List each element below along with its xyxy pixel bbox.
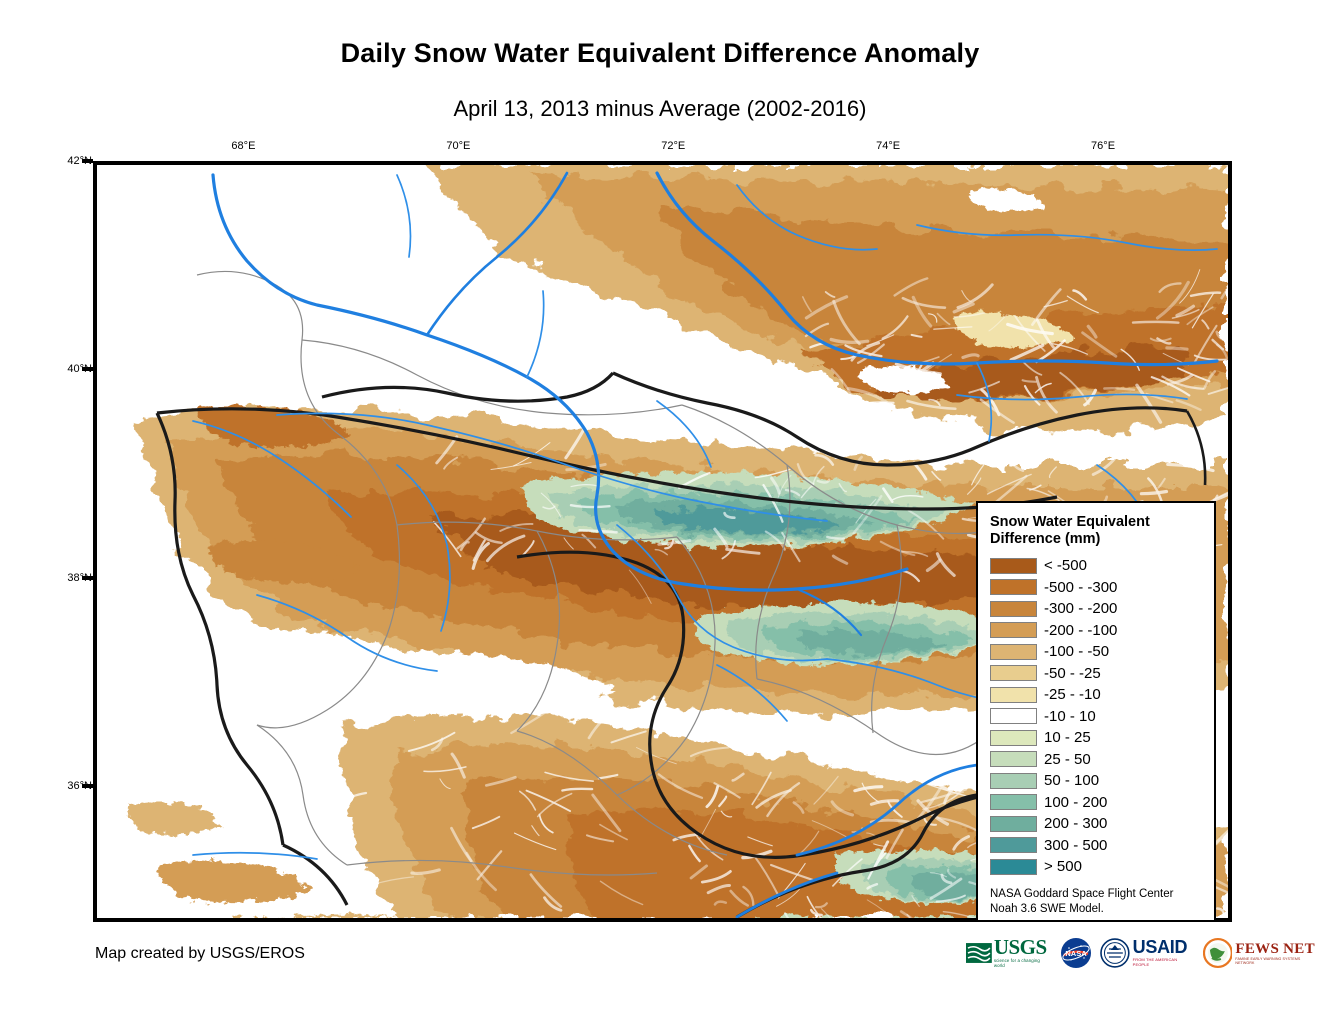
legend-entry: -500 - -300 [990,577,1204,599]
legend-label: 50 - 100 [1044,773,1099,788]
legend-entry: 200 - 300 [990,813,1204,835]
legend-swatch [990,859,1037,875]
legend-label: -200 - -100 [1044,623,1117,638]
legend-label: -10 - 10 [1044,709,1096,724]
ridge-highlight [1133,322,1178,323]
legend-swatch [990,773,1037,789]
legend-swatch [990,730,1037,746]
legend-entry: -25 - -10 [990,684,1204,706]
ridge-highlight [1167,348,1187,349]
longitude-tick-label: 76°E [1091,140,1115,152]
fews-logo-text: FEWS NET [1235,942,1320,957]
page-subtitle: April 13, 2013 minus Average (2002-2016) [0,96,1320,122]
legend-entry: -200 - -100 [990,620,1204,642]
latitude-tick-label: 36°N [58,780,92,792]
latitude-tick-label: 38°N [58,572,92,584]
legend-label: -25 - -10 [1044,687,1101,702]
legend-entries: < -500-500 - -300-300 - -200-200 - -100-… [990,555,1204,878]
map-legend: Snow Water Equivalent Difference (mm) < … [976,501,1216,922]
legend-entry: -10 - 10 [990,706,1204,728]
longitude-tick-label: 68°E [231,140,255,152]
latitude-tick-label: 42°N [58,155,92,167]
legend-entry: -300 - -200 [990,598,1204,620]
fews-logo[interactable]: FEWS NET FAMINE EARLY WARNING SYSTEMS NE… [1203,936,1320,970]
usaid-logo[interactable]: USAID FROM THE AMERICAN PEOPLE [1100,936,1195,970]
legend-label: -100 - -50 [1044,644,1109,659]
legend-entry: -100 - -50 [990,641,1204,663]
usgs-logo-subtext: science for a changing world [994,958,1052,968]
legend-swatch [990,816,1037,832]
legend-swatch [990,665,1037,681]
usgs-wave-icon [966,943,992,963]
legend-label: -50 - -25 [1044,666,1101,681]
legend-label: < -500 [1044,558,1087,573]
legend-entry: 50 - 100 [990,770,1204,792]
legend-entry: 10 - 25 [990,727,1204,749]
page-title: Daily Snow Water Equivalent Difference A… [0,38,1320,69]
fews-logo-subtext: FAMINE EARLY WARNING SYSTEMS NETWORK [1235,957,1320,965]
legend-title-line2: Difference (mm) [990,531,1100,547]
nasa-meatball-icon: NASA [1060,937,1092,969]
agency-logos: USGS science for a changing world NASA U… [966,933,1320,973]
longitude-tick-label: 74°E [876,140,900,152]
legend-swatch [990,708,1037,724]
legend-source-note: NASA Goddard Space Flight Center Noah 3.… [990,887,1204,918]
legend-entry: 100 - 200 [990,792,1204,814]
legend-entry: < -500 [990,555,1204,577]
legend-entry: -50 - -25 [990,663,1204,685]
legend-label: 300 - 500 [1044,838,1107,853]
legend-entry: 25 - 50 [990,749,1204,771]
usaid-logo-subtext: FROM THE AMERICAN PEOPLE [1133,957,1195,967]
legend-title: Snow Water Equivalent Difference (mm) [990,514,1204,548]
svg-text:NASA: NASA [1065,949,1087,958]
legend-swatch [990,751,1037,767]
legend-label: 25 - 50 [1044,752,1091,767]
legend-label: -500 - -300 [1044,580,1117,595]
fews-globe-icon [1203,938,1233,968]
legend-label: > 500 [1044,859,1082,874]
legend-swatch [990,687,1037,703]
latitude-tick-label: 40°N [58,363,92,375]
legend-swatch [990,837,1037,853]
legend-label: 100 - 200 [1044,795,1107,810]
longitude-tick-label: 70°E [446,140,470,152]
legend-label: -300 - -200 [1044,601,1117,616]
map-credit: Map created by USGS/EROS [95,945,305,963]
usgs-logo[interactable]: USGS science for a changing world [966,936,1052,970]
legend-label: 200 - 300 [1044,816,1107,831]
usaid-seal-icon [1100,938,1130,968]
legend-label: 10 - 25 [1044,730,1091,745]
legend-entry: 300 - 500 [990,835,1204,857]
usgs-logo-text: USGS [994,938,1052,958]
legend-title-line1: Snow Water Equivalent [990,514,1150,530]
legend-note-line1: NASA Goddard Space Flight Center [990,888,1173,900]
legend-swatch [990,601,1037,617]
legend-swatch [990,558,1037,574]
legend-swatch [990,622,1037,638]
legend-entry: > 500 [990,856,1204,878]
legend-note-line2: Noah 3.6 SWE Model. [990,903,1104,915]
nasa-logo[interactable]: NASA [1060,936,1092,970]
usaid-logo-text: USAID [1133,939,1195,956]
longitude-tick-label: 72°E [661,140,685,152]
legend-swatch [990,644,1037,660]
legend-swatch [990,579,1037,595]
legend-swatch [990,794,1037,810]
ridge-highlight [868,402,894,403]
